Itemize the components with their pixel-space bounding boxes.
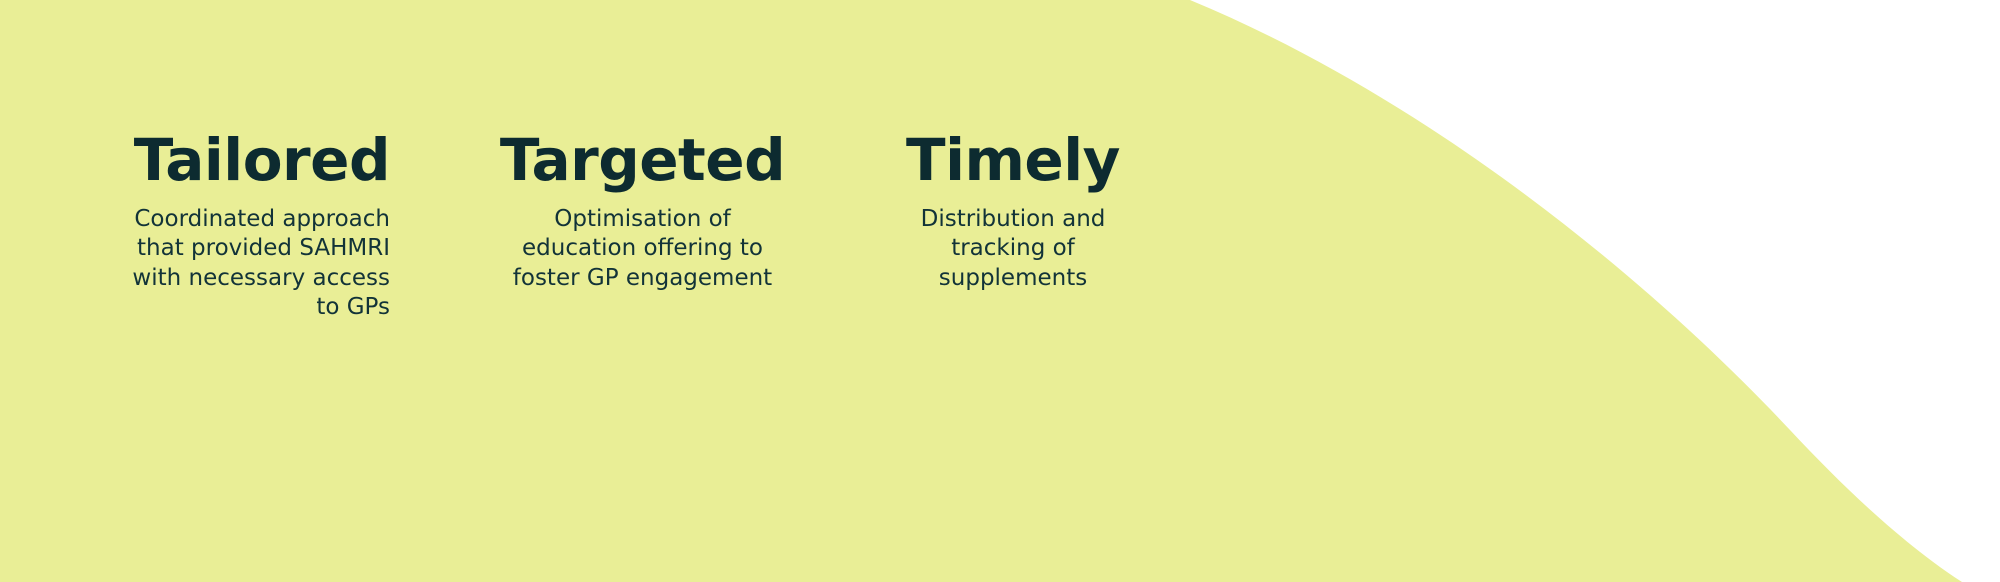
column-tailored: Tailored Coordinated approach that provi… (100, 128, 390, 323)
body-line: that provided SAHMRI (137, 235, 390, 261)
column-targeted-heading: Targeted (460, 128, 825, 193)
body-line: supplements (939, 265, 1087, 291)
column-timely-body: Distribution and tracking of supplements (852, 193, 1174, 294)
body-line: Distribution and (921, 206, 1106, 232)
column-targeted-body: Optimisation of education offering to fo… (460, 193, 825, 294)
body-line: with necessary access (132, 265, 390, 291)
body-line: to GPs (316, 294, 390, 320)
column-tailored-heading: Tailored (100, 128, 390, 193)
body-line: foster GP engagement (513, 265, 772, 291)
slide-canvas: Tailored Coordinated approach that provi… (0, 0, 2000, 582)
column-timely: Timely Distribution and tracking of supp… (852, 128, 1174, 293)
column-targeted: Targeted Optimisation of education offer… (460, 128, 825, 293)
body-line: education offering to (522, 235, 763, 261)
column-tailored-body: Coordinated approach that provided SAHMR… (100, 193, 390, 323)
body-line: Coordinated approach (134, 206, 390, 232)
body-line: Optimisation of (554, 206, 731, 232)
column-timely-heading: Timely (852, 128, 1174, 193)
content-columns: Tailored Coordinated approach that provi… (0, 0, 2000, 582)
body-line: tracking of (951, 235, 1075, 261)
